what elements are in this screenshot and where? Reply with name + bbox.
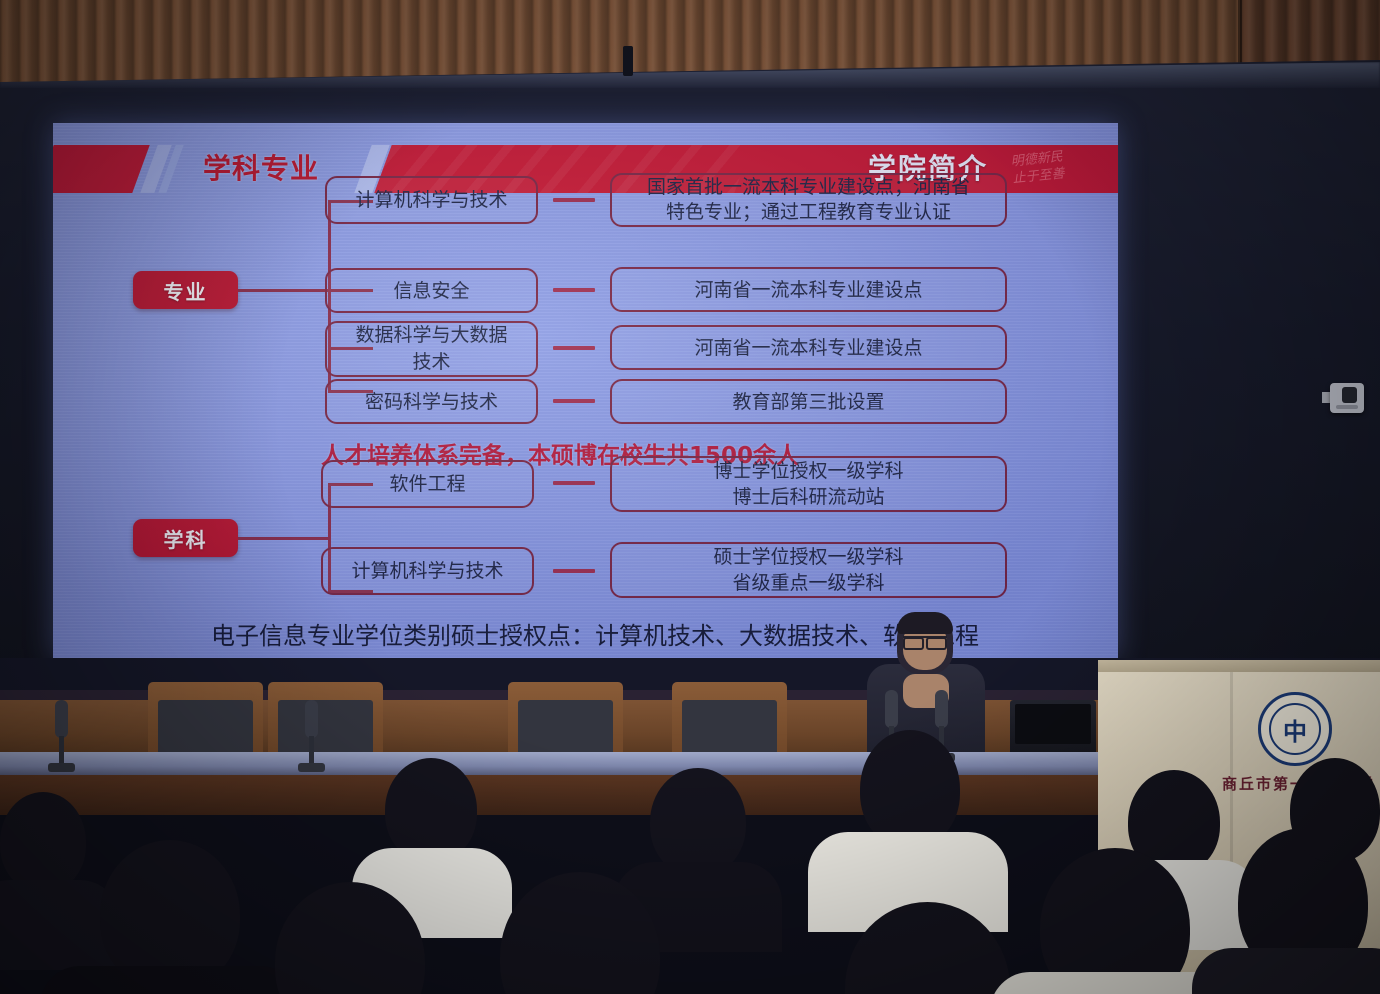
connector xyxy=(238,289,330,292)
major-box-1: 计算机科学与技术 xyxy=(325,176,538,224)
branch-pill-major: 专业 xyxy=(133,271,238,309)
major-box-3: 数据科学与大数据 技术 xyxy=(325,321,538,377)
major-box-4: 密码科学与技术 xyxy=(325,379,538,424)
presentation-slide: 学科专业 学院简介 明德新民 止于至善 专业 计算机科学与技术 信息安全 数据科… xyxy=(53,123,1118,658)
dash-connector xyxy=(553,346,595,350)
audience-head xyxy=(860,730,960,848)
major-desc-1: 国家首批一流本科专业建设点；河南省 特色专业；通过工程教育专业认证 xyxy=(610,173,1007,227)
major-desc-2: 河南省一流本科专业建设点 xyxy=(610,267,1007,312)
audience-head xyxy=(1290,758,1380,862)
wall-camera-icon xyxy=(1330,383,1364,413)
discipline-desc-1: 博士学位授权一级学科 博士后科研流动站 xyxy=(610,456,1007,512)
major-desc-4: 教育部第三批设置 xyxy=(610,379,1007,424)
discipline-box-1: 软件工程 xyxy=(321,460,534,508)
discipline-box-2: 计算机科学与技术 xyxy=(321,547,534,595)
audience-head xyxy=(385,758,477,862)
dash-connector xyxy=(553,399,595,403)
audience-shoulders xyxy=(40,966,300,994)
discipline-desc-1-line1: 博士学位授权一级学科 xyxy=(713,458,903,484)
dash-connector xyxy=(553,198,595,202)
connector xyxy=(238,537,330,540)
audience xyxy=(0,730,1380,994)
dash-connector xyxy=(553,288,595,292)
branch-pill-discipline: 学科 xyxy=(133,519,238,557)
discipline-desc-2-line1: 硕士学位授权一级学科 xyxy=(713,544,903,570)
dash-connector xyxy=(553,481,595,485)
ceiling-clip xyxy=(623,46,633,76)
audience-head xyxy=(650,768,746,876)
discipline-desc-2-line2: 省级重点一级学科 xyxy=(732,570,884,596)
major-desc-1-line1: 国家首批一流本科专业建设点；河南省 xyxy=(647,175,970,200)
audience-shoulders xyxy=(1192,948,1380,994)
major-desc-3: 河南省一流本科专业建设点 xyxy=(610,325,1007,370)
lecture-hall-photo: 学科专业 学院简介 明德新民 止于至善 专业 计算机科学与技术 信息安全 数据科… xyxy=(0,0,1380,994)
major-box-2: 信息安全 xyxy=(325,268,538,313)
major-box-3-line2: 技术 xyxy=(412,349,450,376)
major-desc-1-line2: 特色专业；通过工程教育专业认证 xyxy=(666,200,951,225)
discipline-desc-2: 硕士学位授权一级学科 省级重点一级学科 xyxy=(610,542,1007,598)
audience-head xyxy=(0,792,86,892)
discipline-desc-1-line2: 博士后科研流动站 xyxy=(732,484,884,510)
major-box-3-line1: 数据科学与大数据 xyxy=(355,322,507,349)
dash-connector xyxy=(553,569,595,573)
